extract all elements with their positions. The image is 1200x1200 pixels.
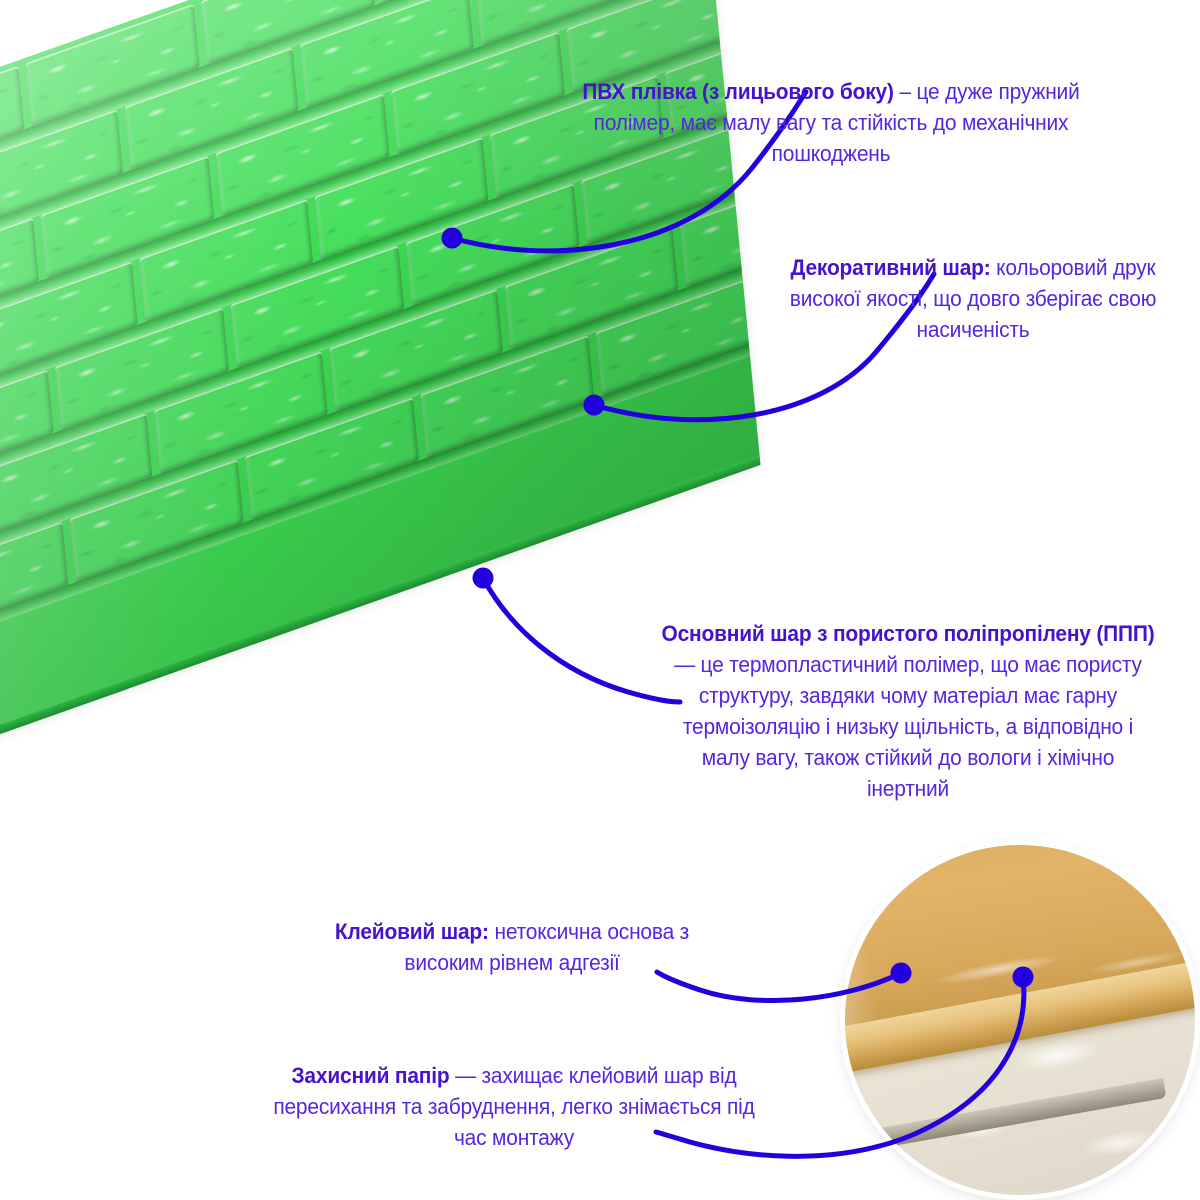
callout-decorative-layer-title: Декоративний шар: xyxy=(791,255,991,280)
callout-polypropylene-core-title: Основний шар з пористого поліпропілену (… xyxy=(661,621,1154,646)
leader-dot-decorative-layer xyxy=(584,395,605,416)
callout-pvc-film: ПВХ плівка (з лицьового боку) – це дуже … xyxy=(568,76,1094,169)
callout-adhesive-layer: Клейовий шар: нетоксична основа з високи… xyxy=(307,916,716,978)
callout-polypropylene-core: Основний шар з пористого поліпропілену (… xyxy=(659,618,1157,804)
callout-decorative-layer: Декоративний шар: кольоровий друк високо… xyxy=(782,252,1163,345)
leader-lines xyxy=(0,0,1200,1200)
callout-adhesive-layer-title: Клейовий шар: xyxy=(335,919,489,944)
callout-pvc-film-title: ПВХ плівка (з лицьового боку) xyxy=(582,79,893,104)
callout-protective-paper: Захисний папір — захищає клейовий шар ві… xyxy=(257,1060,770,1153)
callout-polypropylene-core-body: — це термопластичний полімер, що має пор… xyxy=(674,652,1142,801)
leader-dot-protective-paper xyxy=(1013,967,1034,988)
leader-dot-polypropylene-core xyxy=(473,568,494,589)
infographic-canvas: ПВХ плівка (з лицьового боку) – це дуже … xyxy=(0,0,1200,1200)
leader-dot-adhesive-layer xyxy=(891,963,912,984)
leader-dot-pvc-film xyxy=(442,228,463,249)
leader-line-polypropylene-core xyxy=(483,578,680,702)
callout-protective-paper-title: Захисний папір xyxy=(292,1063,450,1088)
